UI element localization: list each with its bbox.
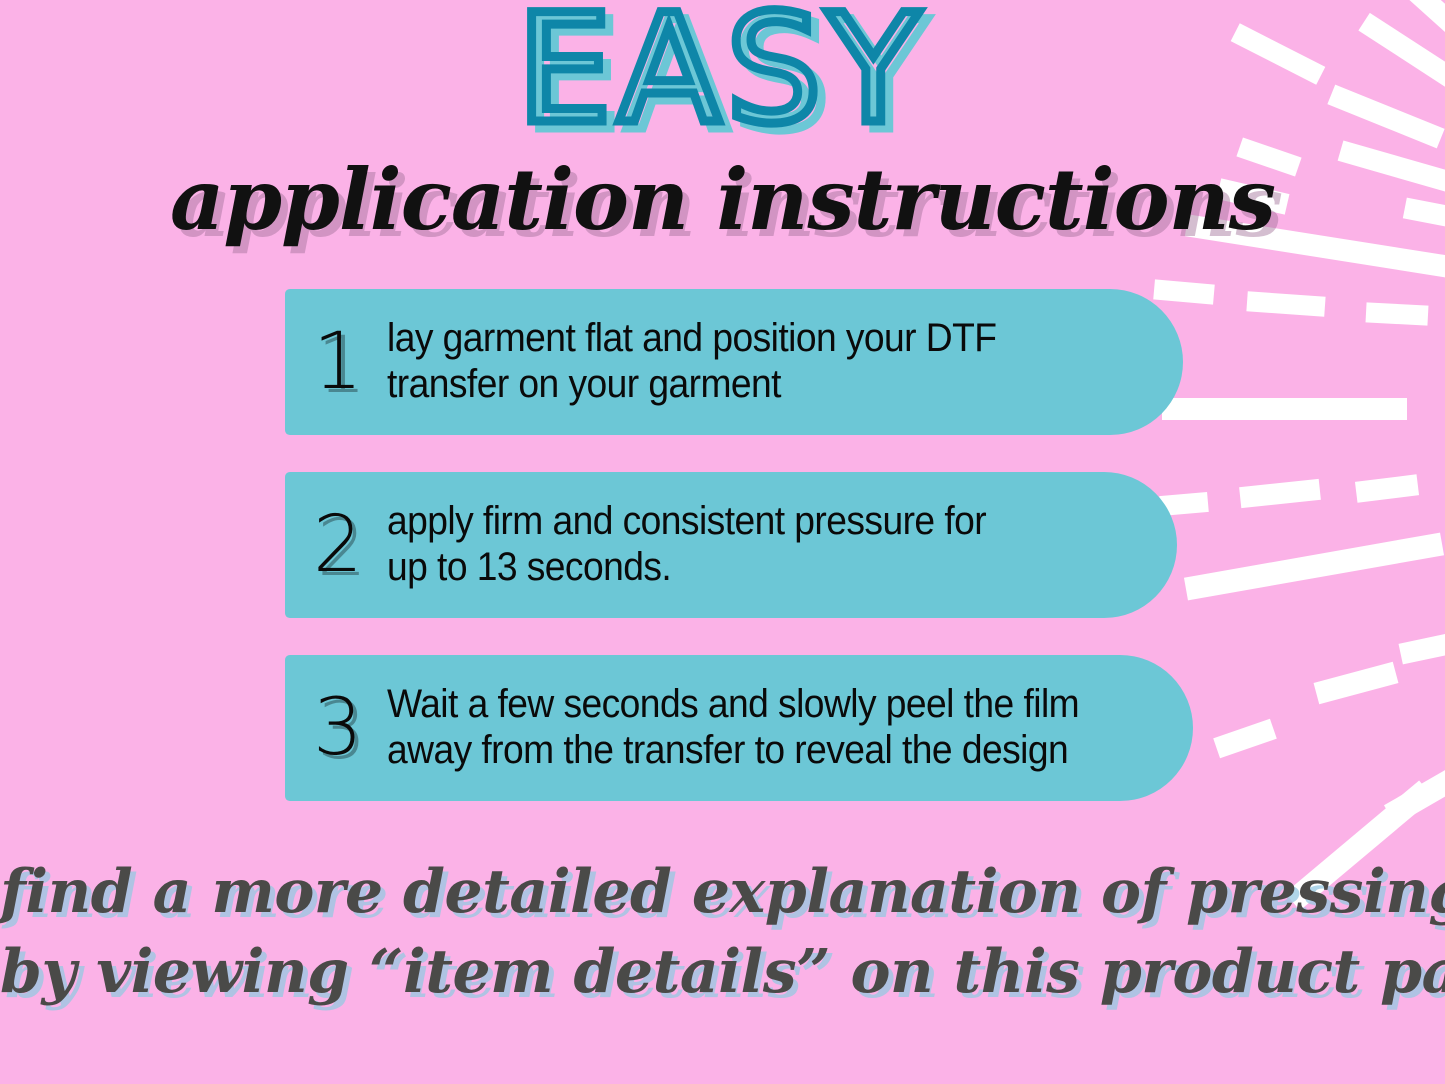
- steps-list: 1 lay garment flat and position your DTF…: [285, 289, 1205, 801]
- step-text-1: lay garment flat and position your DTF t…: [387, 316, 996, 407]
- ray-dash-9: [1185, 214, 1445, 277]
- instruction-poster: EASY EASY application instructions 1 lay…: [0, 0, 1445, 1084]
- ray-dash-1: [1314, 0, 1445, 55]
- ray-dash-20: [1213, 719, 1277, 758]
- ray-dash-12: [1366, 302, 1429, 325]
- ray-dash-7: [1217, 178, 1290, 214]
- ray-dash-21: [1384, 688, 1445, 825]
- ray-dash-18: [1399, 631, 1445, 665]
- ray-dash-22: [1285, 780, 1434, 910]
- page-title-easy: EASY EASY: [0, 8, 1445, 158]
- ray-dash-19: [1314, 662, 1399, 704]
- footer-note: find a more detailed explanation of pres…: [0, 853, 1445, 1013]
- ray-dash-11: [1246, 291, 1325, 316]
- ray-dash-2: [1231, 23, 1326, 84]
- ray-dash-8: [1403, 198, 1445, 236]
- step-number-2: 2: [313, 508, 363, 582]
- footer-note-line-2: by viewing “item details” on this produc…: [0, 933, 1445, 1013]
- ray-dash-3: [1358, 13, 1445, 112]
- easy-title-outline-layer: EASY: [516, 0, 924, 157]
- ray-dash-15: [1239, 479, 1321, 508]
- step-pill-1: 1 lay garment flat and position your DTF…: [285, 289, 1183, 435]
- page-subtitle-script: application instructions: [0, 158, 1445, 242]
- ray-dash-17: [1184, 533, 1444, 601]
- step-number-1: 1: [313, 325, 363, 399]
- step-pill-3: 3 Wait a few seconds and slowly peel the…: [285, 655, 1193, 801]
- step-text-3: Wait a few seconds and slowly peel the f…: [387, 682, 1079, 773]
- step-pill-2: 2 apply firm and consistent pressure for…: [285, 472, 1177, 618]
- ray-dash-4: [1327, 85, 1444, 149]
- ray-dash-6: [1338, 140, 1445, 196]
- footer-note-line-1: find a more detailed explanation of pres…: [0, 853, 1445, 933]
- easy-title-shadow-layer: EASY: [524, 0, 932, 164]
- step-text-2: apply firm and consistent pressure for u…: [387, 499, 986, 590]
- ray-dash-16: [1355, 474, 1419, 502]
- step-number-3: 3: [313, 691, 363, 765]
- ray-dash-5: [1236, 137, 1301, 176]
